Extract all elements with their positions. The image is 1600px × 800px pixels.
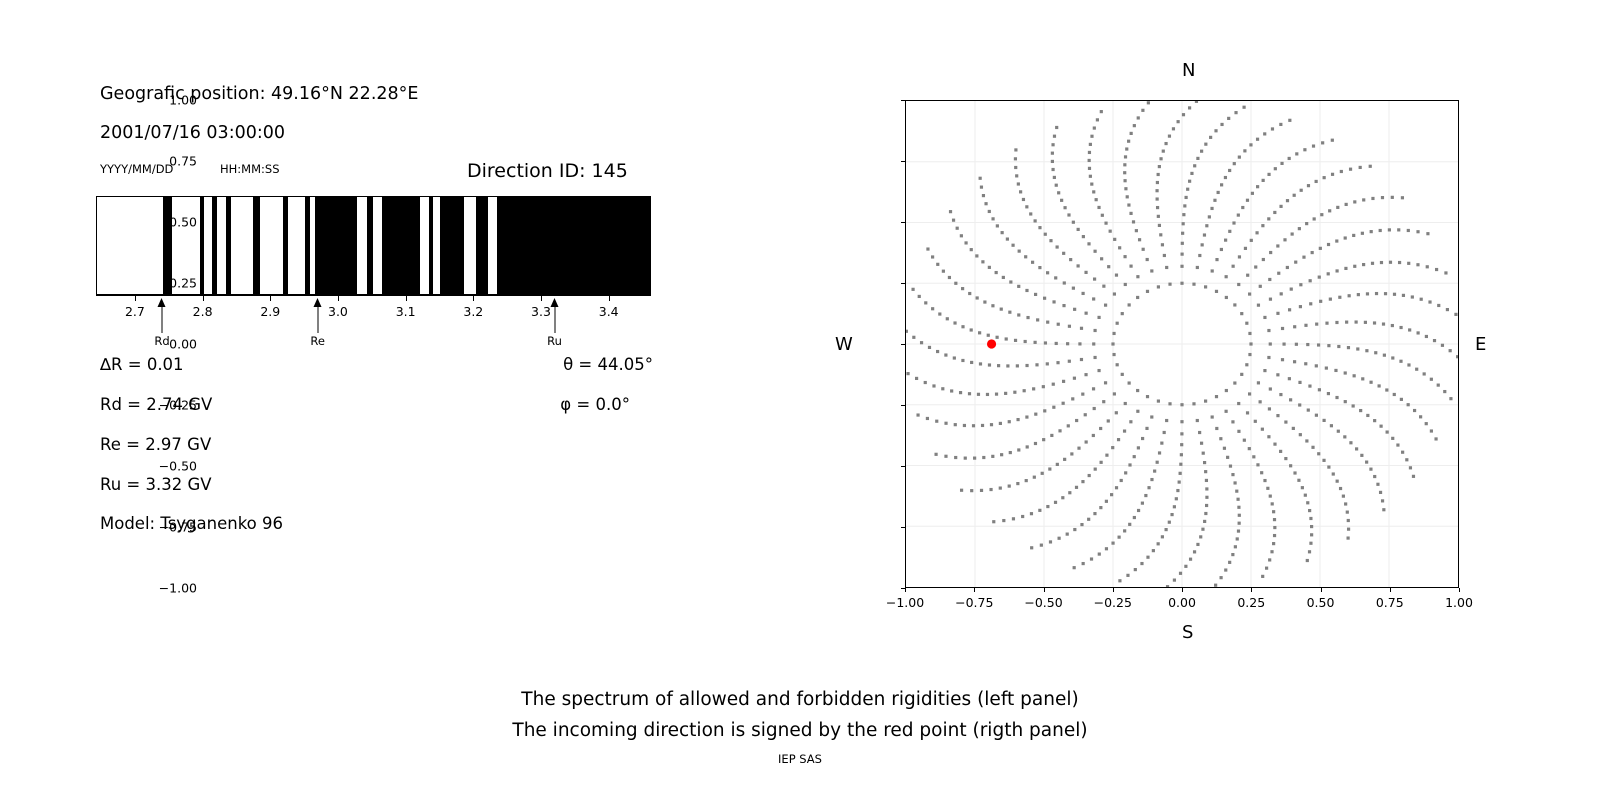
x-axis-tick-mark	[1390, 588, 1391, 592]
rigidity-marker-label: Rd	[154, 334, 169, 348]
rigidity-marker-label: Re	[310, 334, 325, 348]
param-phi: φ = 0.0°	[560, 395, 630, 414]
forbidden-band	[476, 197, 488, 294]
forbidden-band	[315, 197, 357, 294]
axis-tick-label: 2.9	[260, 304, 280, 319]
rigidity-marker-re: Re	[312, 298, 323, 348]
scatter-canvas	[906, 101, 1458, 587]
rigidity-marker-ru: Ru	[549, 298, 560, 348]
x-axis-tick-mark	[974, 588, 975, 592]
x-axis-tick-label: 1.00	[1445, 595, 1473, 610]
incoming-direction-marker	[987, 339, 996, 348]
axis-tick-label: 3.3	[531, 304, 551, 319]
date-format-hint: YYYY/MM/DD	[100, 162, 173, 176]
x-axis-tick-label: 0.75	[1376, 595, 1404, 610]
axis-tick	[541, 295, 542, 301]
forbidden-band	[305, 197, 310, 294]
y-axis-tick-mark	[901, 527, 905, 528]
y-axis-tick-label: 0.00	[169, 337, 197, 352]
rigidity-marker-label: Ru	[547, 334, 562, 348]
axis-tick-label: 3.0	[328, 304, 348, 319]
param-delta-r: ∆R = 0.01	[100, 355, 184, 374]
y-axis-tick-label: 0.75	[169, 154, 197, 169]
compass-label-west: W	[835, 334, 853, 355]
rigidity-spectrum-panel: Geografic position: 49.16°N 22.28°E 2001…	[0, 0, 720, 640]
axis-tick-label: 3.4	[599, 304, 619, 319]
y-axis-tick-mark	[901, 283, 905, 284]
axis-tick-label: 2.8	[193, 304, 213, 319]
footer-credit: IEP SAS	[0, 752, 1600, 766]
x-axis-tick-mark	[1113, 588, 1114, 592]
x-axis-tick-label: 0.00	[1168, 595, 1196, 610]
compass-label-east: E	[1475, 334, 1486, 355]
axis-tick	[338, 295, 339, 301]
y-axis-tick-label: −0.50	[159, 459, 197, 474]
y-axis-tick-mark	[901, 466, 905, 467]
arrow-shaft	[161, 304, 162, 333]
x-axis-tick-mark	[1044, 588, 1045, 592]
y-axis-tick-label: −1.00	[159, 581, 197, 596]
x-axis-tick-mark	[1459, 588, 1460, 592]
rigidity-axis	[96, 295, 651, 309]
direction-id-label: Direction ID: 145	[467, 160, 628, 182]
x-axis-tick-label: 0.25	[1237, 595, 1265, 610]
x-axis-tick-label: −0.50	[1024, 595, 1062, 610]
y-axis-tick-mark	[901, 161, 905, 162]
param-theta: θ = 44.05°	[563, 355, 653, 374]
time-format-hint: HH:MM:SS	[220, 162, 280, 176]
y-axis-tick-label: 1.00	[169, 93, 197, 108]
axis-tick-label: 3.2	[463, 304, 483, 319]
datetime-label: 2001/07/16 03:00:00	[100, 123, 285, 143]
caption-line-1: The spectrum of allowed and forbidden ri…	[0, 684, 1600, 715]
direction-scatter-panel: N S W E −1.00−0.75−0.50−0.250.000.250.50…	[860, 40, 1560, 660]
x-axis-tick-mark	[1251, 588, 1252, 592]
compass-label-south: S	[1182, 622, 1193, 643]
y-axis-tick-label: −0.75	[159, 520, 197, 535]
axis-tick	[203, 295, 204, 301]
y-axis-tick-label: 0.50	[169, 215, 197, 230]
y-axis-tick-label: −0.25	[159, 398, 197, 413]
param-re: Re = 2.97 GV	[100, 435, 211, 454]
x-axis-tick-mark	[1321, 588, 1322, 592]
axis-tick	[135, 295, 136, 301]
axis-tick	[473, 295, 474, 301]
y-axis-tick-mark	[901, 344, 905, 345]
arrow-shaft	[317, 304, 318, 333]
rigidity-marker-rd: Rd	[156, 298, 167, 348]
forbidden-band	[212, 197, 217, 294]
axis-tick	[406, 295, 407, 301]
x-axis-tick-label: 0.50	[1307, 595, 1335, 610]
x-axis-tick-mark	[905, 588, 906, 592]
arrow-shaft	[554, 304, 555, 333]
axis-line	[96, 295, 651, 296]
x-axis-tick-label: −0.25	[1094, 595, 1132, 610]
x-axis-tick-mark	[1182, 588, 1183, 592]
y-axis-tick-label: 0.25	[169, 276, 197, 291]
y-axis-tick-mark	[901, 405, 905, 406]
forbidden-band	[497, 197, 651, 294]
geographic-position-label: Geografic position: 49.16°N 22.28°E	[100, 84, 418, 104]
y-axis-tick-mark	[901, 100, 905, 101]
forbidden-band	[253, 197, 260, 294]
axis-tick-label: 2.7	[125, 304, 145, 319]
forbidden-band	[283, 197, 288, 294]
x-axis-tick-label: −0.75	[955, 595, 993, 610]
param-ru: Ru = 3.32 GV	[100, 475, 212, 494]
forbidden-band	[200, 197, 204, 294]
forbidden-band	[367, 197, 372, 294]
y-axis-tick-mark	[901, 222, 905, 223]
x-axis-tick-label: −1.00	[886, 595, 924, 610]
forbidden-band	[226, 197, 231, 294]
caption-line-2: The incoming direction is signed by the …	[0, 715, 1600, 746]
compass-label-north: N	[1182, 60, 1195, 81]
forbidden-band	[429, 197, 433, 294]
forbidden-band	[440, 197, 464, 294]
axis-tick-label: 3.1	[396, 304, 416, 319]
direction-plot-frame	[905, 100, 1459, 588]
axis-tick	[609, 295, 610, 301]
forbidden-band	[382, 197, 419, 294]
axis-tick	[270, 295, 271, 301]
figure-caption: The spectrum of allowed and forbidden ri…	[0, 684, 1600, 746]
